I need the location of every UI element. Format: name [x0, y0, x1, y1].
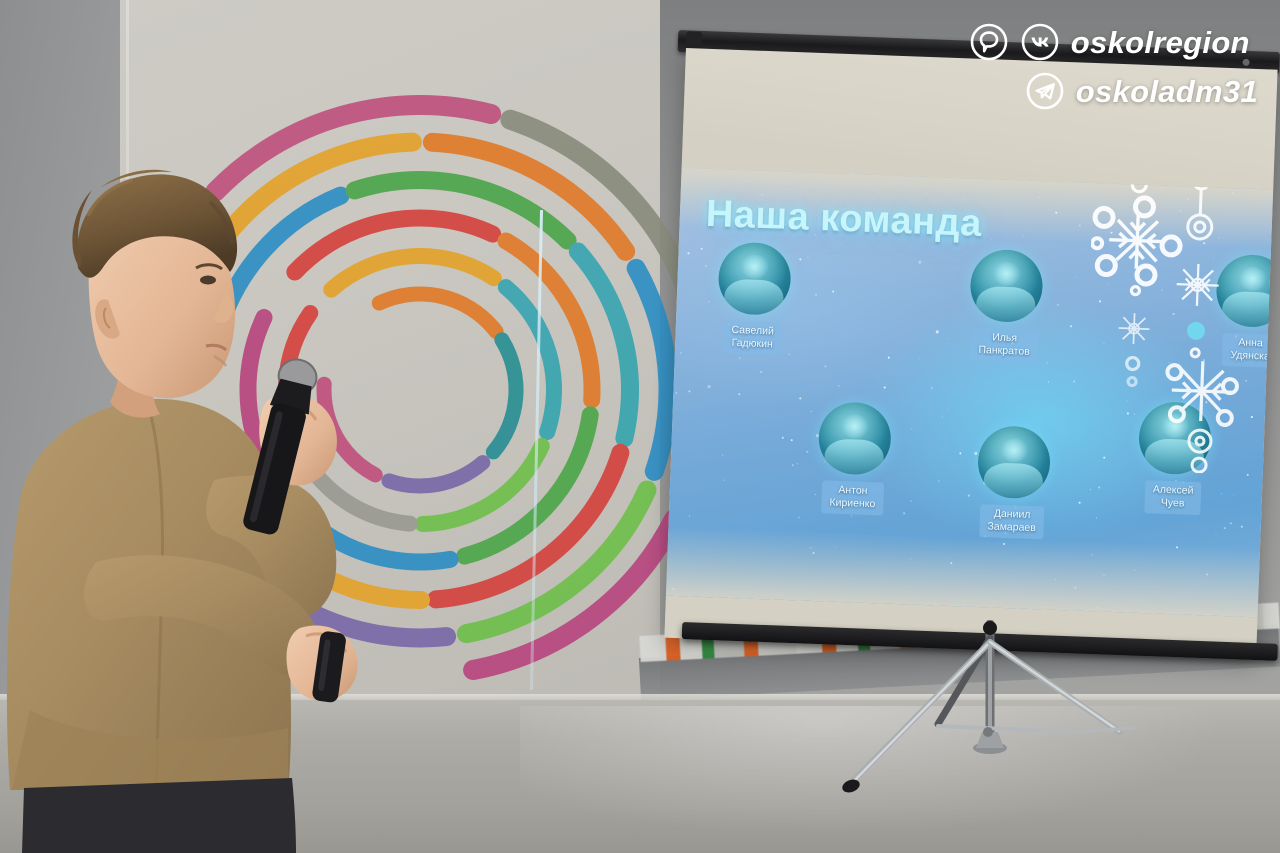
team-member: СавелийГадюкин: [709, 241, 799, 356]
avatar: [717, 241, 792, 316]
member-name: АннаУдянска: [1222, 333, 1273, 368]
telegram-icon: [1025, 71, 1065, 111]
avatar: [1138, 401, 1213, 476]
avatar: [818, 401, 893, 476]
watermark-row: oskoladm31: [969, 71, 1258, 111]
projection-screen: Наша команда СавелийГадюкин ИльяПанкрато…: [672, 30, 1280, 670]
tripod-stand: [820, 620, 1150, 820]
watermark-row: oskolregion: [969, 22, 1258, 62]
chat-bubble-icon: [969, 22, 1009, 62]
avatar: [1215, 254, 1273, 329]
watermark-handle: oskolregion: [1071, 27, 1250, 58]
avatar: [969, 249, 1044, 324]
photo-scene: Наша команда СавелийГадюкин ИльяПанкрато…: [0, 0, 1280, 853]
projected-slide: Наша команда СавелийГадюкин ИльяПанкрато…: [666, 168, 1273, 617]
member-name: ИльяПанкратов: [970, 328, 1039, 364]
avatar: [977, 425, 1052, 500]
presenter: [0, 150, 400, 853]
team-member: АлексейЧуев: [1129, 401, 1219, 516]
team-member: ДаниилЗамараев: [968, 425, 1058, 540]
member-name: ДаниилЗамараев: [979, 504, 1045, 540]
watermark-handle: oskoladm31: [1076, 76, 1258, 107]
member-name: СавелийГадюкин: [723, 321, 783, 356]
member-name: АнтонКириенко: [821, 480, 884, 515]
team-member: АннаУдянска: [1207, 253, 1273, 368]
screen-fabric: Наша команда СавелийГадюкин ИльяПанкрато…: [664, 48, 1277, 659]
team-member: АнтонКириенко: [809, 401, 899, 516]
vk-icon: [1020, 22, 1060, 62]
watermark-overlay: oskolregion oskoladm31: [969, 22, 1258, 120]
team-member: ИльяПанкратов: [961, 248, 1051, 363]
member-name: АлексейЧуев: [1144, 480, 1202, 515]
